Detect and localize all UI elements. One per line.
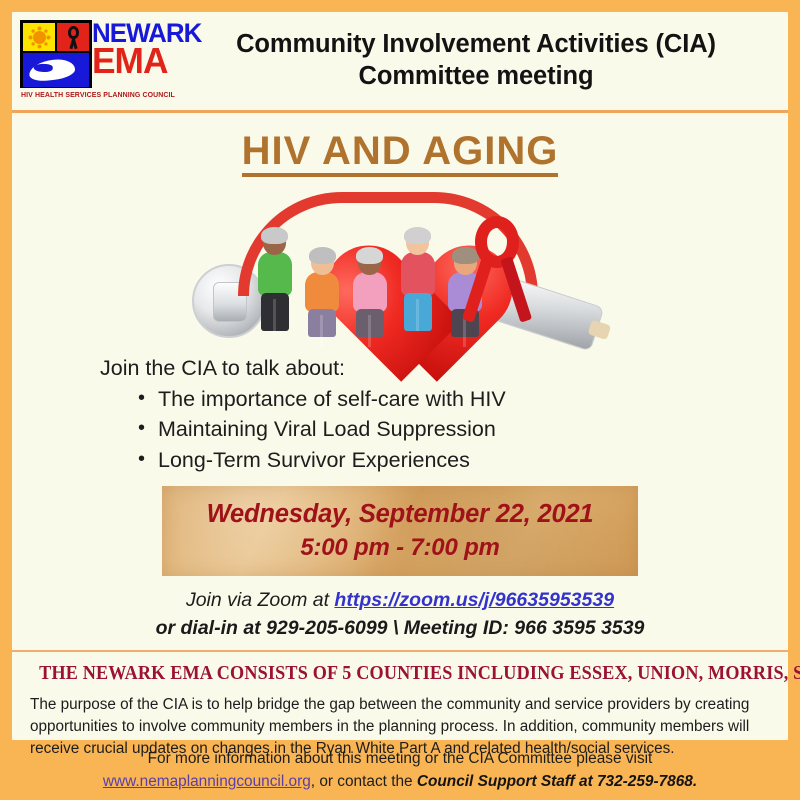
- hero-illustration: [190, 185, 610, 340]
- event-date: Wednesday, September 22, 2021: [162, 498, 638, 532]
- access-info: Join via Zoom at https://zoom.us/j/96635…: [12, 589, 788, 640]
- main-panel: NEWARK EMA HIV HEALTH SERVICES PLANNING …: [12, 12, 788, 740]
- list-item: The importance of self-care with HIV: [138, 389, 788, 411]
- footer-mid-text: , or contact the: [311, 773, 417, 790]
- footer: For more information about this meeting …: [0, 748, 800, 794]
- zoom-meeting-link[interactable]: https://zoom.us/j/96635953539: [334, 589, 614, 611]
- subject-heading: HIV AND AGING: [242, 130, 559, 177]
- zoom-join-line: Join via Zoom at https://zoom.us/j/96635…: [12, 589, 788, 612]
- newark-ema-logo: NEWARK EMA HIV HEALTH SERVICES PLANNING …: [20, 18, 178, 104]
- footer-line-2: www.nemaplanningcouncil.org, or contact …: [0, 771, 800, 794]
- event-datetime-banner: Wednesday, September 22, 2021 5:00 pm - …: [162, 486, 638, 576]
- list-item: Maintaining Viral Load Suppression: [138, 419, 788, 441]
- person-figure: [300, 242, 346, 334]
- header: NEWARK EMA HIV HEALTH SERVICES PLANNING …: [12, 12, 788, 110]
- person-figure: [347, 242, 393, 334]
- page-title-line-2: Committee meeting: [182, 61, 770, 93]
- awareness-ribbon-icon: [57, 23, 89, 51]
- list-item: Long-Term Survivor Experiences: [138, 450, 788, 472]
- event-time: 5:00 pm - 7:00 pm: [162, 532, 638, 564]
- logo-top-quadrants: [23, 23, 89, 51]
- zoom-join-prefix: Join via Zoom at: [186, 589, 334, 611]
- elderly-people-graphic: [252, 216, 488, 334]
- dove-icon: [23, 53, 89, 87]
- counties-divider: [12, 650, 788, 652]
- aids-ribbon-graphic: [462, 216, 532, 326]
- page-title-line-1: Community Involvement Activities (CIA): [182, 29, 770, 61]
- support-staff-contact: Council Support Staff at 732-259-7868.: [417, 773, 697, 790]
- logo-name-bottom: EMA: [92, 46, 204, 77]
- footer-line-1: For more information about this meeting …: [0, 748, 800, 771]
- counties-banner: THE NEWARK EMA CONSISTS OF 5 COUNTIES IN…: [39, 663, 761, 685]
- person-figure: [252, 230, 298, 334]
- logo-wordmark: NEWARK EMA: [92, 22, 206, 77]
- logo-tagline: HIV HEALTH SERVICES PLANNING COUNCIL: [21, 90, 175, 99]
- sun-icon: [23, 23, 55, 51]
- person-figure: [395, 230, 441, 334]
- agenda-list: The importance of self-care with HIV Mai…: [100, 389, 788, 472]
- subject-heading-wrap: HIV AND AGING: [12, 113, 788, 177]
- page-title: Community Involvement Activities (CIA) C…: [178, 29, 788, 93]
- dial-in-line: or dial-in at 929-205-6099 \ Meeting ID:…: [12, 617, 788, 640]
- website-link[interactable]: www.nemaplanningcouncil.org: [103, 773, 311, 790]
- logo-mark: [20, 20, 92, 88]
- flyer-canvas: NEWARK EMA HIV HEALTH SERVICES PLANNING …: [0, 0, 800, 800]
